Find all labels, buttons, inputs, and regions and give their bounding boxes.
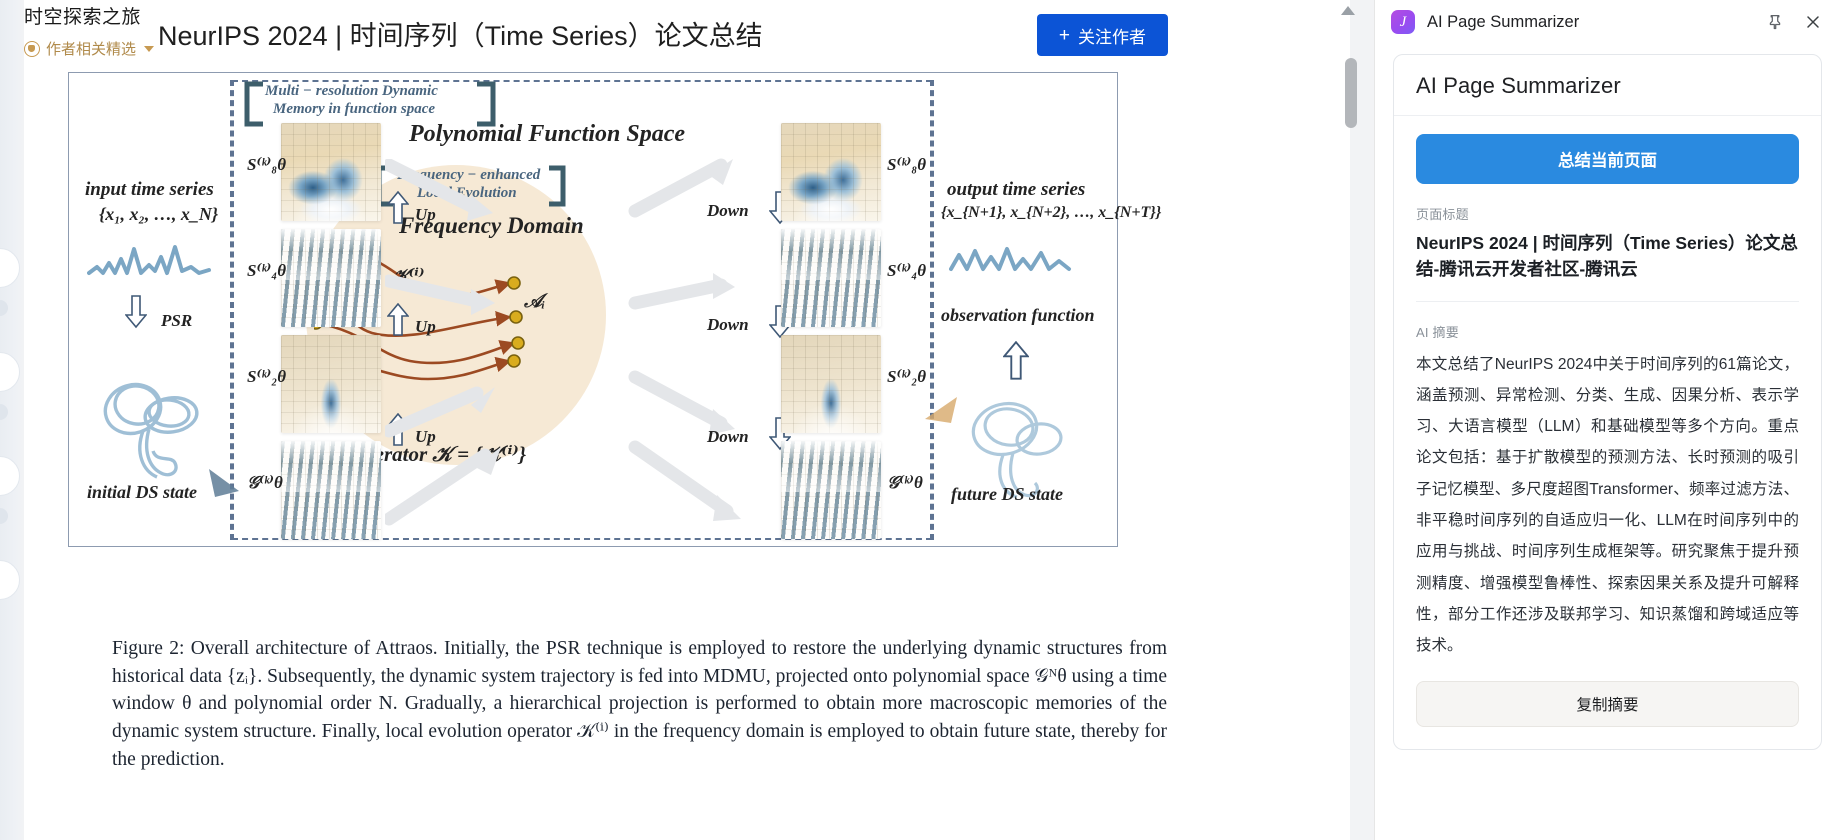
side-panel-header-title: AI Page Summarizer: [1427, 13, 1750, 32]
rail-bubble[interactable]: [0, 352, 20, 392]
down-label-3: Down: [707, 427, 749, 447]
output-series-set-label: {x_{N+1}, x_{N+2}, …, x_{N+T}}: [941, 204, 1161, 222]
initial-ds-attractor: [91, 371, 213, 487]
extension-side-panel: AI Page Summarizer AI Page Summarizer 总结…: [1374, 0, 1840, 840]
observation-function-label: observation function: [941, 305, 1095, 326]
down-label-1: Down: [707, 201, 749, 221]
output-series-waveform: [949, 239, 1079, 281]
input-time-series-label: input time series: [85, 179, 214, 201]
summarizer-title: AI Page Summarizer: [1416, 73, 1799, 99]
ai-summary-label: AI 摘要: [1416, 322, 1799, 341]
rail-bubble[interactable]: [0, 248, 20, 288]
page-title-field-value: NeurIPS 2024 | 时间序列（Time Series）论文总结-腾讯云…: [1416, 230, 1799, 283]
attractor-out-arrow: [921, 391, 975, 437]
chevron-down-icon: [144, 46, 154, 52]
follow-author-label: 关注作者: [1078, 23, 1146, 48]
figure-caption: Figure 2: Overall architecture of Attrao…: [112, 635, 1167, 773]
scrollbar-thumb[interactable]: [1345, 58, 1357, 128]
output-time-series-label: output time series: [947, 179, 1085, 201]
rail-bubble[interactable]: [0, 560, 20, 600]
screen-root: 时空探索之旅 作者相关精选 NeurIPS 2024 | 时间序列（Time S…: [0, 0, 1840, 840]
flow-arrow-in: [385, 373, 505, 443]
article-header: 时空探索之旅 作者相关精选 NeurIPS 2024 | 时间序列（Time S…: [24, 0, 1350, 70]
bracket-open-icon: [241, 81, 263, 127]
flow-arrow-in: [385, 441, 515, 527]
down-label-2: Down: [707, 315, 749, 335]
left-stack-label-1: S⁽ᵏ⁾₄θ: [247, 261, 286, 281]
pin-icon[interactable]: [1762, 9, 1788, 35]
plus-icon: +: [1059, 26, 1070, 45]
surface-plot-s2theta-left: [281, 335, 381, 433]
initial-ds-state-label: initial DS state: [87, 482, 197, 503]
article-sheet: 时空探索之旅 作者相关精选 NeurIPS 2024 | 时间序列（Time S…: [24, 0, 1350, 840]
surface-plot-gtheta-left: [281, 441, 381, 539]
figure-container: input time series {x₁, x₂, …, x_N} PSR: [68, 72, 1118, 547]
medal-icon: [24, 41, 40, 57]
input-series-waveform: [87, 237, 217, 281]
extension-logo-icon: [1391, 10, 1415, 34]
card-divider: [1416, 301, 1799, 302]
flow-arrow-out: [609, 433, 749, 529]
observation-up-arrow-icon: [1003, 341, 1029, 381]
summarizer-card-header: AI Page Summarizer: [1394, 55, 1821, 116]
side-panel-header: AI Page Summarizer: [1375, 0, 1840, 44]
rail-dot[interactable]: [0, 300, 8, 316]
surface-plot-s4theta-left: [281, 229, 381, 327]
figure-image[interactable]: input time series {x₁, x₂, …, x_N} PSR: [68, 72, 1118, 547]
mdmu-bracket-line1: Multi − resolution Dynamic: [265, 83, 438, 100]
copy-summary-button[interactable]: 复制摘要: [1416, 681, 1799, 727]
follow-author-button[interactable]: + 关注作者: [1037, 14, 1168, 56]
bracket-close-icon: [549, 165, 569, 207]
polynomial-function-space-title: Polynomial Function Space: [409, 121, 685, 148]
page-title: NeurIPS 2024 | 时间序列（Time Series）论文总结: [158, 14, 763, 53]
left-stack-label-0: S⁽ᵏ⁾₈θ: [247, 155, 286, 175]
article-column: 时空探索之旅 作者相关精选 NeurIPS 2024 | 时间序列（Time S…: [0, 0, 1374, 840]
input-series-set-label: {x₁, x₂, …, x_N}: [99, 204, 218, 225]
attractor-in-arrow: [205, 463, 259, 509]
psr-down-arrow-icon: [125, 295, 147, 329]
left-stack-label-2: S⁽ᵏ⁾₂θ: [247, 367, 286, 387]
right-stack-label-1: S⁽ᵏ⁾₄θ: [887, 261, 926, 281]
page-scrollbar[interactable]: [1352, 0, 1366, 840]
right-stack-label-3: 𝒢⁽ᵏ⁾θ: [887, 473, 923, 493]
scroll-up-arrow-icon[interactable]: [1341, 6, 1355, 15]
flow-arrow-in: [385, 269, 505, 329]
surface-plot-s8theta-right: [781, 123, 881, 221]
blog-name[interactable]: 时空探索之旅: [24, 2, 141, 29]
mdmu-bracket-line2: Memory in function space: [273, 101, 435, 118]
rail-dot[interactable]: [0, 508, 8, 524]
amplitude-label-right: 𝒜ᵢ: [524, 291, 545, 313]
author-picks-label: 作者相关精选: [46, 38, 136, 59]
future-ds-state-label: future DS state: [951, 484, 1063, 505]
surface-plot-s4theta-right: [781, 229, 881, 327]
surface-plot-s2theta-right: [781, 335, 881, 433]
author-picks-dropdown[interactable]: 作者相关精选: [24, 38, 154, 59]
right-stack-label-0: S⁽ᵏ⁾₈θ: [887, 155, 926, 175]
surface-plot-gtheta-right: [781, 441, 881, 539]
page-title-field-label: 页面标题: [1416, 204, 1799, 223]
psr-label: PSR: [161, 311, 192, 331]
rail-dot[interactable]: [0, 404, 8, 420]
summarizer-card: AI Page Summarizer 总结当前页面 页面标题 NeurIPS 2…: [1393, 54, 1822, 750]
summarizer-card-body: 总结当前页面 页面标题 NeurIPS 2024 | 时间序列（Time Ser…: [1394, 116, 1821, 749]
flow-arrow-in: [385, 159, 505, 229]
summarize-page-button[interactable]: 总结当前页面: [1416, 134, 1799, 184]
ai-summary-text: 本文总结了NeurIPS 2024中关于时间序列的61篇论文，涵盖预测、异常检测…: [1416, 349, 1799, 662]
close-icon[interactable]: [1800, 9, 1826, 35]
rail-bubble[interactable]: [0, 456, 20, 496]
surface-plot-s8theta-left: [281, 123, 381, 221]
left-floating-rail: [0, 0, 24, 840]
right-stack-label-2: S⁽ᵏ⁾₂θ: [887, 367, 926, 387]
side-panel-body: AI Page Summarizer 总结当前页面 页面标题 NeurIPS 2…: [1375, 44, 1840, 840]
